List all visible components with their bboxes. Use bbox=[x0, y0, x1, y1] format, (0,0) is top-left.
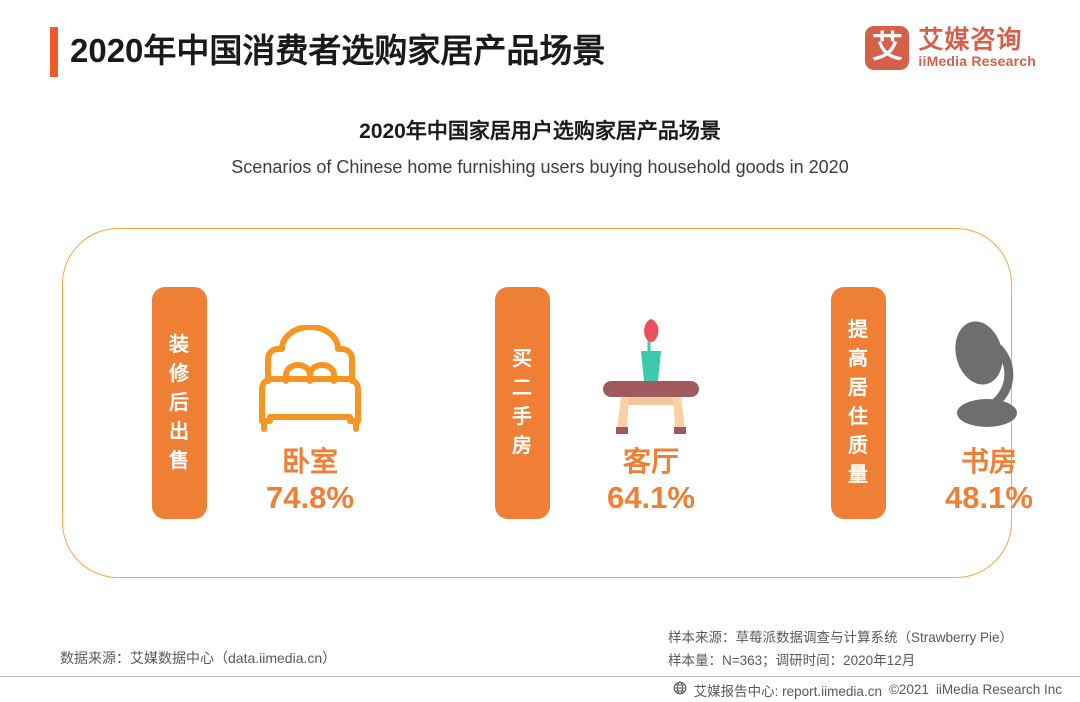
logo-name-en: iiMedia Research bbox=[918, 53, 1036, 70]
room-label: 客厅 bbox=[623, 445, 679, 479]
chart-subtitle: Scenarios of Chinese home furnishing use… bbox=[0, 157, 1080, 178]
page-title: 2020年中国消费者选购家居产品场景 bbox=[70, 25, 605, 77]
page-header: 2020年中国消费者选购家居产品场景 艾 艾媒咨询 iiMedia Resear… bbox=[0, 0, 1080, 96]
bed-icon bbox=[256, 309, 364, 437]
title-accent-bar bbox=[50, 27, 58, 77]
scenario-item: 买二手房 bbox=[495, 287, 726, 519]
scenario-label-pill: 买二手房 bbox=[495, 287, 550, 519]
scenario-figure: 卧室 74.8% bbox=[235, 287, 385, 517]
scenario-figure: 书房 48.1% bbox=[914, 287, 1064, 517]
footer-bar: 艾媒报告中心: report.iimedia.cn ©2021 iiMedia … bbox=[0, 677, 1080, 702]
globe-icon bbox=[673, 681, 687, 698]
scenario-item: 装修后出售 卧室 74.8% bbox=[152, 287, 385, 519]
room-value: 74.8% bbox=[266, 479, 354, 517]
scenario-list: 装修后出售 卧室 74.8% bbox=[62, 228, 1012, 578]
data-source-text: 数据来源：艾媒数据中心（data.iimedia.cn） bbox=[60, 648, 336, 668]
scenario-item: 提高居住质量 书房 48.1% bbox=[831, 287, 1064, 519]
logo-text: 艾媒咨询 iiMedia Research bbox=[918, 27, 1036, 70]
copyright-text: ©2021 bbox=[889, 682, 929, 697]
scenario-label-pill: 提高居住质量 bbox=[831, 287, 886, 519]
room-label: 书房 bbox=[961, 445, 1017, 479]
scenario-label-text: 买二手房 bbox=[512, 345, 534, 461]
scenario-label-text: 提高居住质量 bbox=[848, 316, 870, 490]
scenario-label-pill: 装修后出售 bbox=[152, 287, 207, 519]
brand-logo: 艾 艾媒咨询 iiMedia Research bbox=[865, 26, 1036, 70]
sample-source-text: 样本来源：草莓派数据调查与计算系统（Strawberry Pie） bbox=[668, 626, 1013, 649]
room-label: 卧室 bbox=[282, 445, 338, 479]
room-value: 48.1% bbox=[945, 479, 1033, 517]
sample-info: 样本来源：草莓派数据调查与计算系统（Strawberry Pie） 样本量：N=… bbox=[668, 626, 1013, 672]
report-center-text: 艾媒报告中心: report.iimedia.cn bbox=[694, 680, 882, 700]
table-plant-icon bbox=[599, 309, 703, 437]
desk-lamp-icon bbox=[941, 309, 1037, 437]
sample-size-text: 样本量：N=363；调研时间：2020年12月 bbox=[668, 649, 1013, 672]
company-text: iiMedia Research Inc bbox=[936, 682, 1062, 697]
logo-mark-icon: 艾 bbox=[865, 26, 909, 70]
logo-name-cn: 艾媒咨询 bbox=[918, 27, 1036, 53]
chart-title: 2020年中国家居用户选购家居产品场景 bbox=[0, 115, 1080, 145]
scenario-label-text: 装修后出售 bbox=[169, 331, 191, 476]
room-value: 64.1% bbox=[607, 479, 695, 517]
logo-mark-glyph: 艾 bbox=[865, 33, 909, 64]
scenario-figure: 客厅 64.1% bbox=[576, 287, 726, 517]
